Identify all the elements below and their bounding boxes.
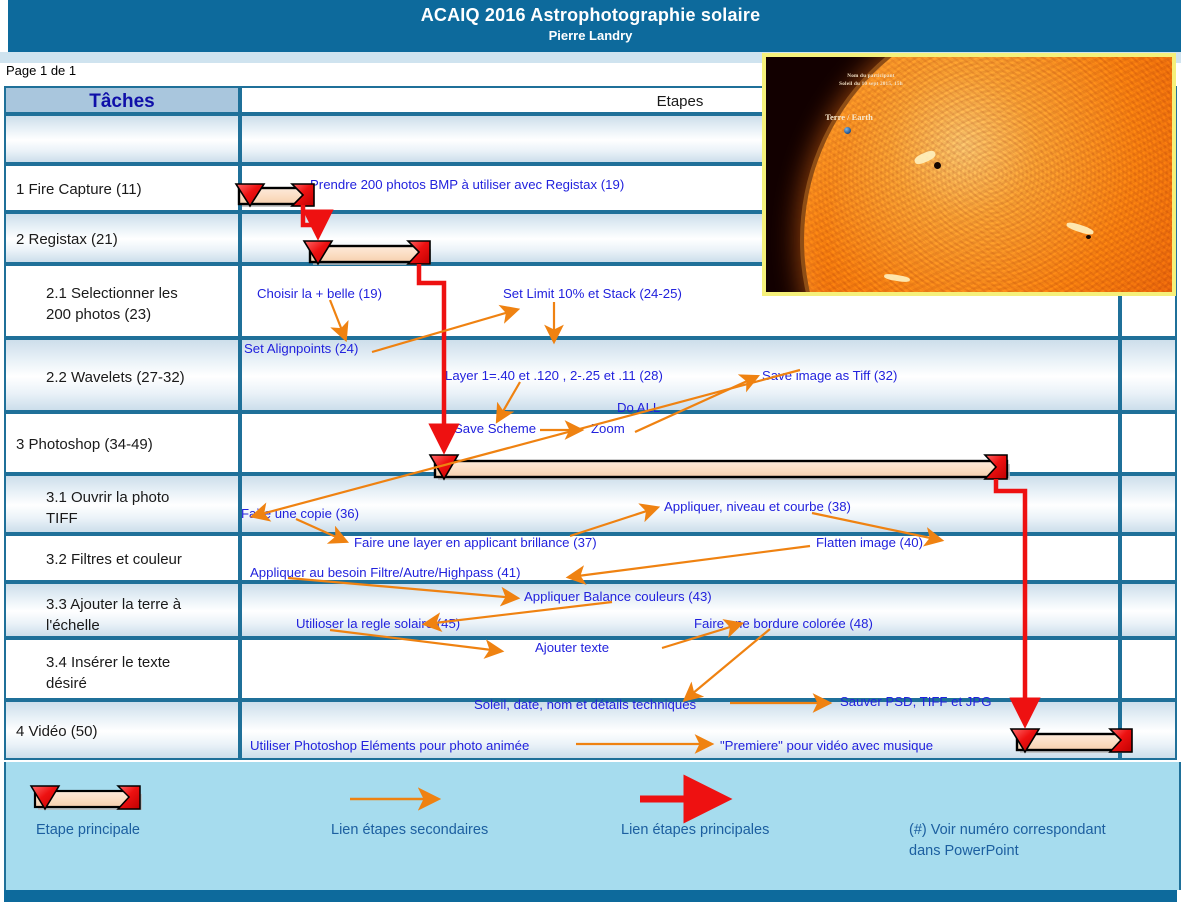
photo-earth-label: Terre / Earth [794, 112, 904, 122]
task-label: 3.1 Ouvrir la photo TIFF [46, 487, 232, 529]
step-text-s13: Flatten image (40) [816, 535, 923, 550]
step-text-s22: "Premiere" pour vidéo avec musique [720, 738, 933, 753]
task-label: 3.4 Insérer le texte désiré [46, 652, 232, 694]
step-text-s10: Faire une copie (36) [241, 506, 359, 521]
step-text-s4: Set Alignpoints (24) [244, 341, 358, 356]
photo-sun-limb [800, 53, 1176, 296]
end-cell [1120, 338, 1177, 412]
task-label: 3 Photoshop (34-49) [16, 434, 232, 455]
page-subtitle-author: Pierre Landry [0, 28, 1181, 43]
step-text-s5: Layer 1=.40 et .120 , 2-.25 et .11 (28) [445, 368, 663, 383]
legend-panel: Etape principale Lien étapes secondaires… [4, 762, 1181, 890]
end-cell [1120, 474, 1177, 534]
step-text-s11: Appliquer, niveau et courbe (38) [664, 499, 851, 514]
step-text-s8: Save Scheme [454, 421, 536, 436]
task-cell: 3 Photoshop (34-49) [4, 412, 240, 474]
task-label: 2 Registax (21) [16, 229, 232, 250]
task-label: 4 Vidéo (50) [16, 721, 232, 742]
step-text-s9: Zoom [591, 421, 625, 436]
task-cell [4, 114, 240, 164]
step-text-s15: Appliquer Balance couleurs (43) [524, 589, 712, 604]
task-label: 3.2 Filtres et couleur [46, 549, 232, 570]
table-row: 3.1 Ouvrir la photo TIFF [4, 474, 1177, 534]
step-text-s16: Utilioser la regle solaire (45) [296, 616, 460, 631]
step-text-s7: Do ALL [617, 400, 660, 415]
end-cell [1120, 412, 1177, 474]
step-text-s6: Save image as Tiff (32) [762, 368, 897, 383]
photo-caption-line2: Soleil du 10 sept 2015, 15h [801, 81, 941, 87]
photo-caption-line1: Nom du participant [801, 73, 941, 79]
page-title: ACAIQ 2016 Astrophotographie solaire [0, 5, 1181, 26]
step-text-s12: Faire une layer en applicant brillance (… [354, 535, 597, 550]
legend-note-line2: dans PowerPoint [909, 841, 1019, 861]
task-label: 1 Fire Capture (11) [16, 179, 232, 200]
step-text-s14: Appliquer au besoin Filtre/Autre/Highpas… [250, 565, 521, 580]
step-text-s19: Soleil, date, nom et détails techniques [474, 697, 696, 712]
task-cell: 3.2 Filtres et couleur [4, 534, 240, 582]
title-band: ACAIQ 2016 Astrophotographie solaire Pie… [0, 0, 1181, 52]
task-cell: 3.1 Ouvrir la photo TIFF [4, 474, 240, 534]
photo-earth-marker [844, 127, 851, 134]
step-cell [240, 412, 1120, 474]
legend-milestone-label: Etape principale [36, 820, 140, 840]
step-cell [240, 638, 1120, 700]
task-cell: 3.3 Ajouter la terre à l'échelle [4, 582, 240, 638]
photo-sunspot [934, 162, 941, 169]
column-header-tasks: Tâches [6, 91, 238, 112]
task-label: 3.3 Ajouter la terre à l'échelle [46, 594, 232, 636]
end-cell [1120, 700, 1177, 760]
legend-secondary-link-label: Lien étapes secondaires [331, 820, 488, 840]
page-counter-label: Page 1 de 1 [6, 63, 76, 78]
step-text-s17: Faire une bordure colorée (48) [694, 616, 873, 631]
task-cell: 3.4 Insérer le texte désiré [4, 638, 240, 700]
step-text-s3: Set Limit 10% et Stack (24-25) [503, 286, 682, 301]
step-text-s1: Prendre 200 photos BMP à utiliser avec R… [310, 177, 624, 192]
worksheet-page: ACAIQ 2016 Astrophotographie solaire Pie… [0, 0, 1181, 905]
header-cell-tasks: Tâches [4, 86, 240, 114]
legend-note-line1: (#) Voir numéro correspondant [909, 820, 1106, 840]
legend-primary-link-label: Lien étapes principales [621, 820, 769, 840]
step-text-s20: Sauver PSD, TIFF et JPG [840, 694, 991, 709]
task-cell: 1 Fire Capture (11) [4, 164, 240, 212]
task-cell: 2.1 Selectionner les 200 photos (23) [4, 264, 240, 338]
end-cell [1120, 638, 1177, 700]
end-cell [1120, 582, 1177, 638]
step-cell [240, 338, 1120, 412]
step-text-s2: Choisir la + belle (19) [257, 286, 382, 301]
end-cell [1120, 534, 1177, 582]
step-text-s18: Ajouter texte [535, 640, 609, 655]
bottom-accent-bar [4, 890, 1177, 902]
task-label: 2.2 Wavelets (27-32) [46, 367, 232, 388]
photo-sunspot [1086, 235, 1091, 239]
task-label: 2.1 Selectionner les 200 photos (23) [46, 283, 232, 325]
task-cell: 2 Registax (21) [4, 212, 240, 264]
task-cell: 4 Vidéo (50) [4, 700, 240, 760]
step-text-s21: Utiliser Photoshop Eléments pour photo a… [250, 738, 529, 753]
title-band-left-gap [0, 0, 8, 52]
solar-photo: Nom du participant Soleil du 10 sept 201… [762, 53, 1176, 296]
task-cell: 2.2 Wavelets (27-32) [4, 338, 240, 412]
